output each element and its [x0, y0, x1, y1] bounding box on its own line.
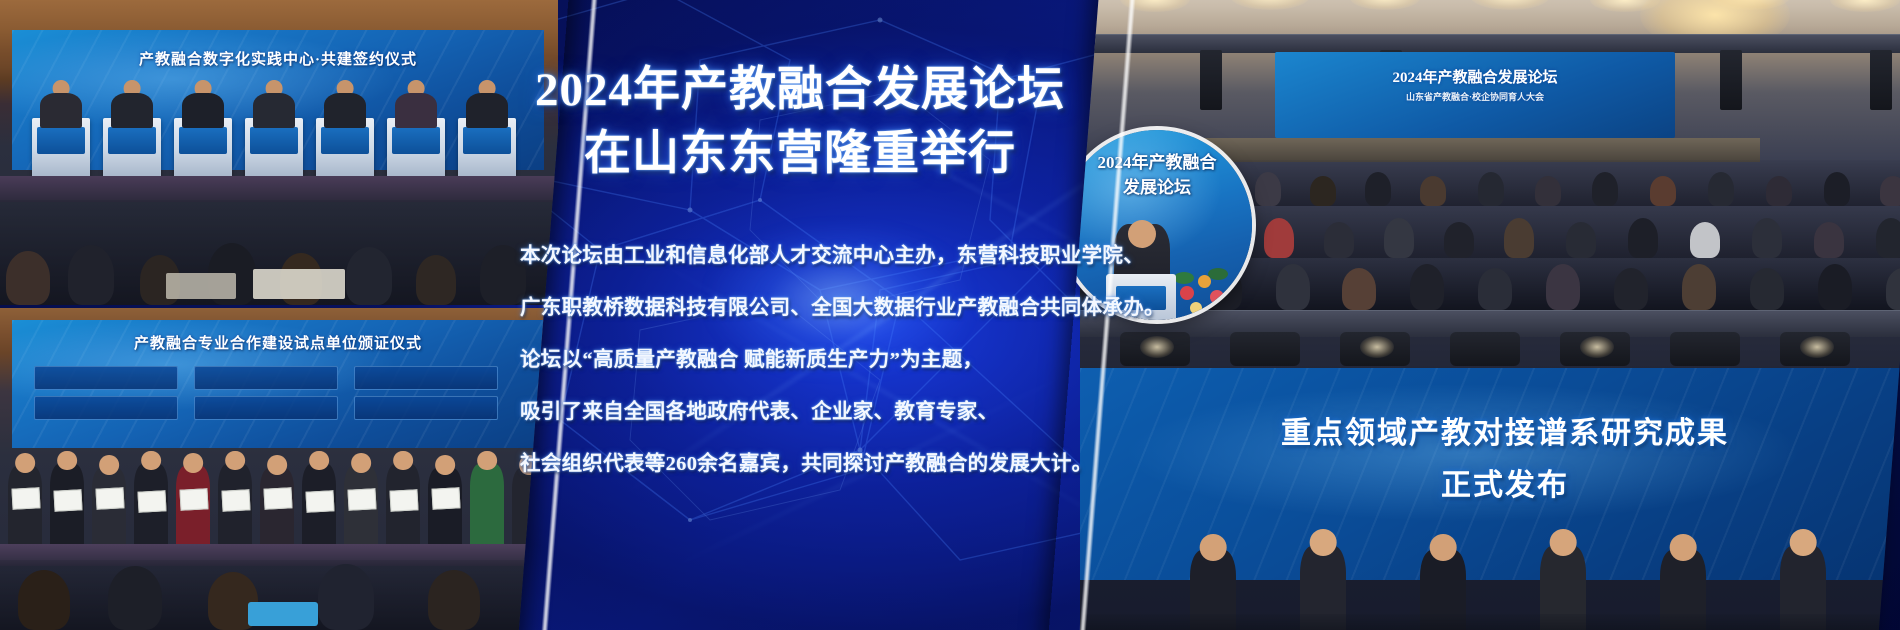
release-screen-line-2: 正式发布: [1080, 460, 1900, 504]
inset-line-1: 2024年产教融合: [1062, 150, 1252, 175]
news-banner-image: 2024年产教融合发展论坛 在山东东营隆重举行 本次论坛由工业和信息化部人才交流…: [0, 0, 1900, 630]
stage-screen-title: 2024年产教融合发展论坛: [1275, 66, 1675, 87]
body-line-3: 论坛以“高质量产教融合 赋能新质生产力”为主题，: [520, 334, 1080, 386]
inset-screen-text: 2024年产教融合 发展论坛: [1062, 150, 1252, 200]
release-screen-line-1: 重点领域产教对接谱系研究成果: [1080, 408, 1900, 452]
certificate-screen-title: 产教融合专业合作建设试点单位颁证仪式: [0, 332, 558, 353]
signing-screen-title: 产教融合数字化实践中心·共建签约仪式: [0, 48, 558, 69]
body-line-2: 广东职教桥数据科技有限公司、全国大数据行业产教融合共同体承办。: [520, 282, 1080, 334]
body-line-4: 吸引了来自全国各地政府代表、企业家、教育专家、: [520, 386, 1080, 438]
audience-seating: [0, 200, 558, 305]
headline-line-1: 2024年产教融合发展论坛: [535, 64, 1065, 116]
circular-speaker-inset: 2024年产教融合 发展论坛: [1062, 130, 1252, 320]
photo-certificate-ceremony: 产教融合专业合作建设试点单位颁证仪式: [0, 308, 558, 630]
photo-results-release: 重点领域产教对接谱系研究成果 正式发布: [1080, 310, 1900, 630]
left-photo-collage: 产教融合数字化实践中心·共建签约仪式: [0, 0, 570, 630]
body-paragraph: 本次论坛由工业和信息化部人才交流中心主办，东营科技职业学院、 广东职教桥数据科技…: [520, 230, 1080, 490]
photo-signing-ceremony: 产教融合数字化实践中心·共建签约仪式: [0, 0, 558, 305]
body-line-1: 本次论坛由工业和信息化部人才交流中心主办，东营科技职业学院、: [520, 230, 1080, 282]
right-photo-collage: 2024年产教融合发展论坛 山东省产教融合·校企协同育人大会: [1047, 0, 1900, 630]
inset-line-2: 发展论坛: [1062, 175, 1252, 200]
body-line-5: 社会组织代表等260余名嘉宾，共同探讨产教融合的发展大计。: [520, 438, 1080, 490]
headline-line-2: 在山东东营隆重举行: [520, 122, 1080, 186]
headline-and-body-text: 2024年产教融合发展论坛 在山东东营隆重举行 本次论坛由工业和信息化部人才交流…: [520, 58, 1080, 490]
stage-screen-subtitle: 山东省产教融合·校企协同育人大会: [1275, 90, 1675, 103]
page-title: 2024年产教融合发展论坛 在山东东营隆重举行: [520, 58, 1080, 186]
